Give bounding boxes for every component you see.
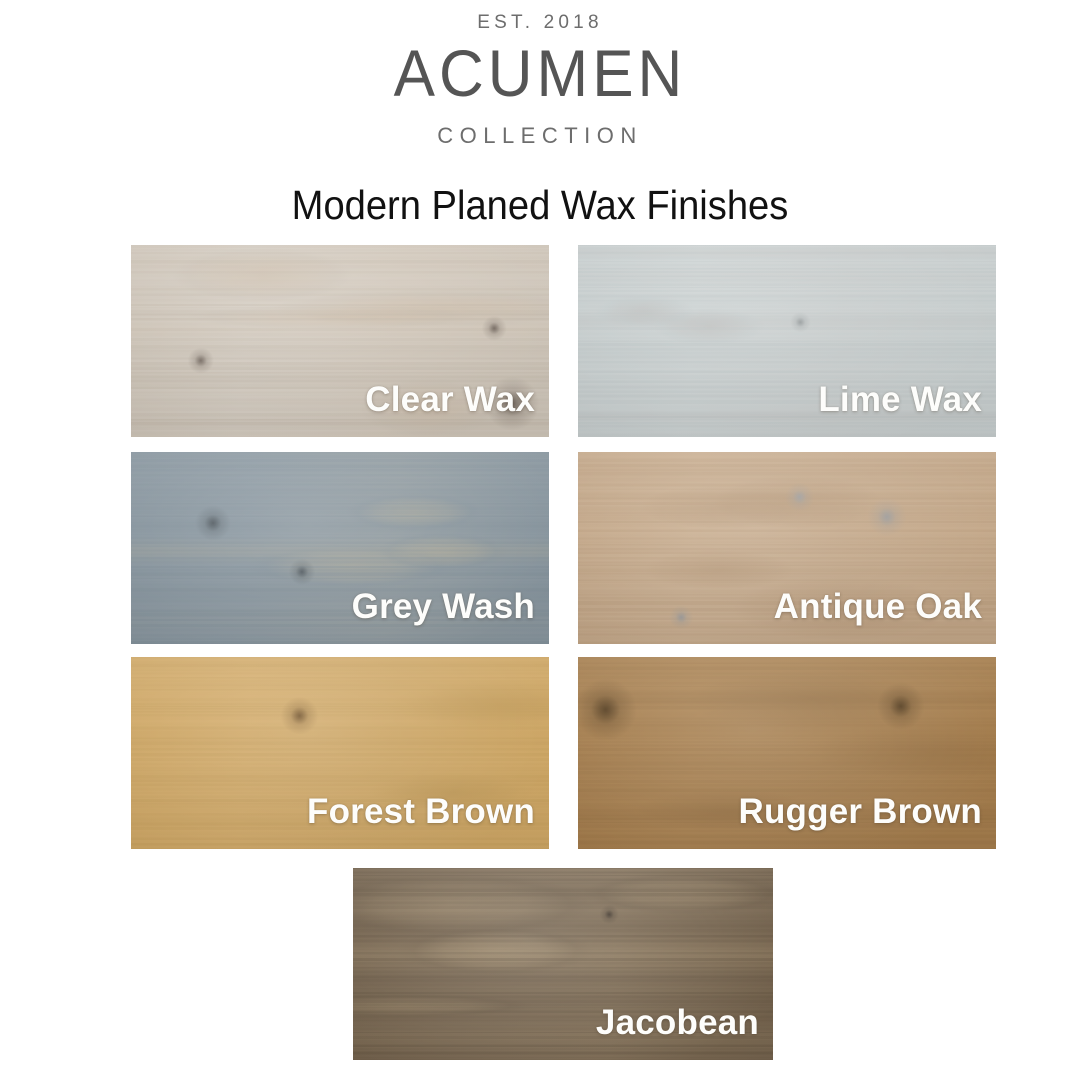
swatch-label: Clear Wax xyxy=(365,380,535,420)
swatch-label: Jacobean xyxy=(596,1003,759,1043)
swatch-jacobean[interactable]: Jacobean xyxy=(353,868,773,1060)
swatch-label: Rugger Brown xyxy=(738,792,982,832)
swatch-rugger-brown[interactable]: Rugger Brown xyxy=(578,657,996,849)
swatch-clear-wax[interactable]: Clear Wax xyxy=(131,245,549,437)
swatch-grey-wash[interactable]: Grey Wash xyxy=(131,452,549,644)
swatch-label: Forest Brown xyxy=(307,792,535,832)
poster-root: EST. 2018 ACUMEN COLLECTION Modern Plane… xyxy=(0,0,1080,1080)
swatch-lime-wax[interactable]: Lime Wax xyxy=(578,245,996,437)
swatch-forest-brown[interactable]: Forest Brown xyxy=(131,657,549,849)
swatch-grid: Clear WaxLime WaxGrey WashAntique OakFor… xyxy=(0,0,1080,1080)
swatch-antique-oak[interactable]: Antique Oak xyxy=(578,452,996,644)
swatch-label: Grey Wash xyxy=(352,587,535,627)
swatch-label: Antique Oak xyxy=(774,587,982,627)
swatch-label: Lime Wax xyxy=(818,380,982,420)
